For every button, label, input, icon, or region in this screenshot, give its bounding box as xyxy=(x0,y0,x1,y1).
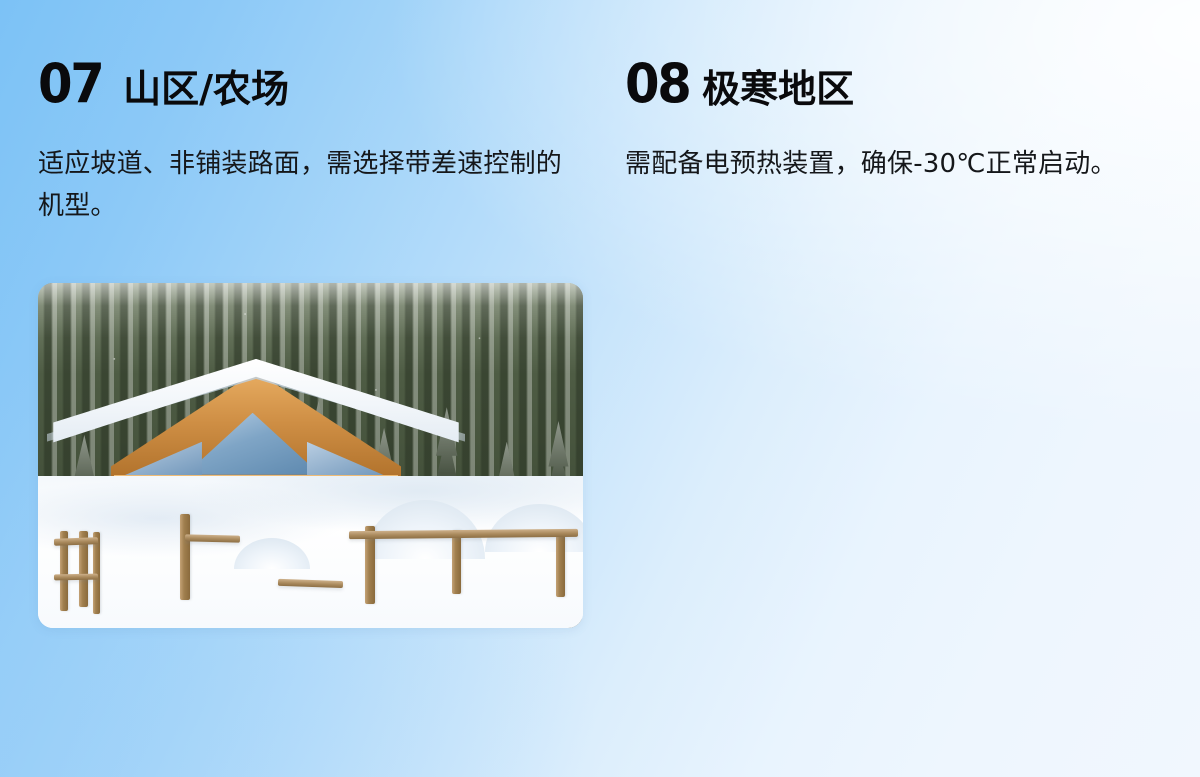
section-body-08: 需配备电预热装置，确保-30℃正常启动。 xyxy=(625,143,1170,185)
section-number-08: 08 xyxy=(625,57,690,111)
fence-post xyxy=(556,535,565,597)
poster-canvas: 07 山区/农场 适应坡道、非铺装路面，需选择带差速控制的机型。 xyxy=(0,0,1200,777)
fence-post xyxy=(452,530,461,594)
section-card-08: 08 极寒地区 需配备电预热装置，确保-30℃正常启动。 xyxy=(600,0,1200,777)
two-column-layout: 07 山区/农场 适应坡道、非铺装路面，需选择带差速控制的机型。 xyxy=(0,0,1200,777)
section-image-07 xyxy=(38,283,583,628)
mountain-farm-scene xyxy=(38,283,583,628)
section-number-07: 07 xyxy=(38,57,103,111)
section-heading-07: 07 山区/农场 xyxy=(38,57,600,111)
snow-ground xyxy=(38,476,583,628)
fence-post xyxy=(180,514,190,600)
fence-rail xyxy=(185,534,240,542)
section-card-07: 07 山区/农场 适应坡道、非铺装路面，需选择带差速控制的机型。 xyxy=(0,0,600,777)
section-title-07: 山区/农场 xyxy=(123,67,289,111)
fence-rail xyxy=(54,573,98,580)
section-heading-08: 08 极寒地区 xyxy=(625,57,1200,111)
section-title-08: 极寒地区 xyxy=(702,67,854,111)
section-body-07: 适应坡道、非铺装路面，需选择带差速控制的机型。 xyxy=(38,143,583,227)
